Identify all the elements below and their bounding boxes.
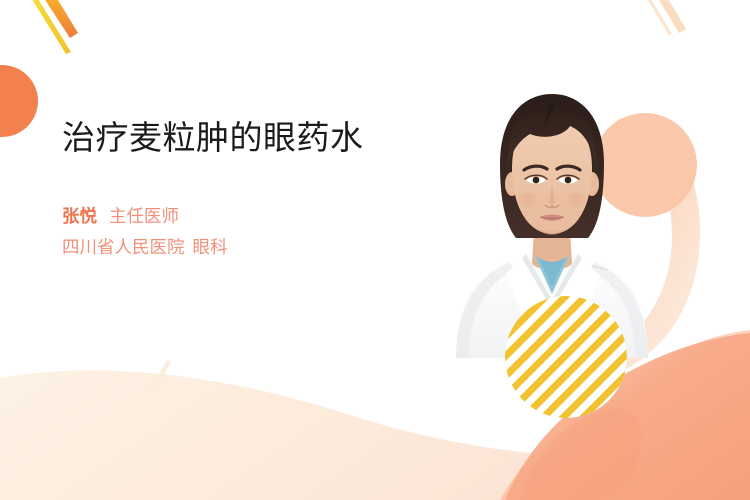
doctor-meta: 张悦主任医师 四川省人民医院眼科 — [62, 201, 422, 263]
doctor-name-line: 张悦主任医师 — [62, 201, 422, 232]
doctor-name: 张悦 — [62, 206, 97, 226]
cover-text-block: 治疗麦粒肿的眼药水 张悦主任医师 四川省人民医院眼科 — [62, 116, 422, 263]
doctor-video-cover-card: 治疗麦粒肿的眼药水 张悦主任医师 四川省人民医院眼科 — [0, 0, 750, 500]
orange-circle-decoration — [0, 65, 38, 137]
yellow-striped-circle-decoration — [505, 296, 627, 418]
cheek-left — [519, 193, 537, 207]
top-left-slashes-decoration — [25, 0, 78, 54]
top-right-slashes-decoration — [643, 0, 686, 35]
pupil-left — [533, 177, 540, 184]
doctor-hospital: 四川省人民医院 — [62, 237, 185, 257]
doctor-rank: 主任医师 — [109, 206, 179, 226]
doctor-department: 眼科 — [193, 237, 228, 257]
cheek-right — [567, 193, 585, 207]
pupil-right — [565, 177, 572, 184]
doctor-affiliation-line: 四川省人民医院眼科 — [62, 232, 422, 263]
page-title: 治疗麦粒肿的眼药水 — [62, 116, 402, 159]
